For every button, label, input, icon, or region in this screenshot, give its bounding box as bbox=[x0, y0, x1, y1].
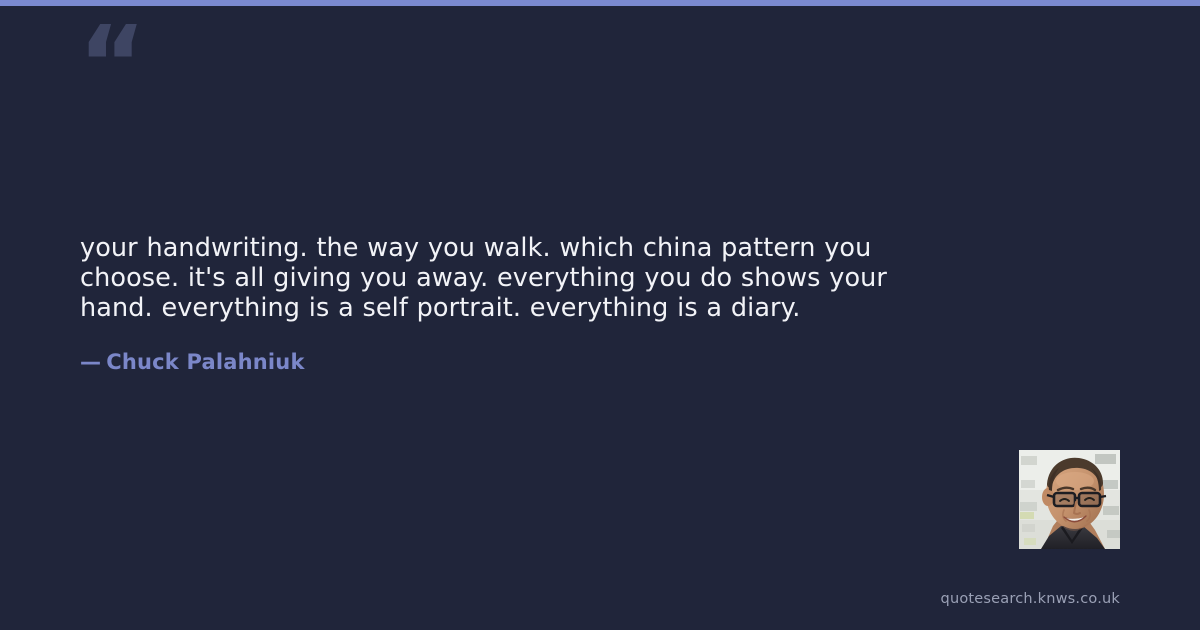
quote-text: your handwriting. the way you walk. whic… bbox=[80, 233, 940, 323]
source-url: quotesearch.knws.co.uk bbox=[941, 590, 1120, 608]
author-name: Chuck Palahniuk bbox=[106, 350, 304, 374]
quote-author: —Chuck Palahniuk bbox=[80, 348, 305, 376]
top-accent-bar bbox=[0, 0, 1200, 6]
opening-quote-icon: “ bbox=[78, 12, 144, 116]
author-portrait-image bbox=[1019, 450, 1120, 549]
quote-card: “ your handwriting. the way you walk. wh… bbox=[0, 0, 1200, 630]
author-dash: — bbox=[80, 348, 101, 376]
author-portrait bbox=[1019, 450, 1120, 549]
